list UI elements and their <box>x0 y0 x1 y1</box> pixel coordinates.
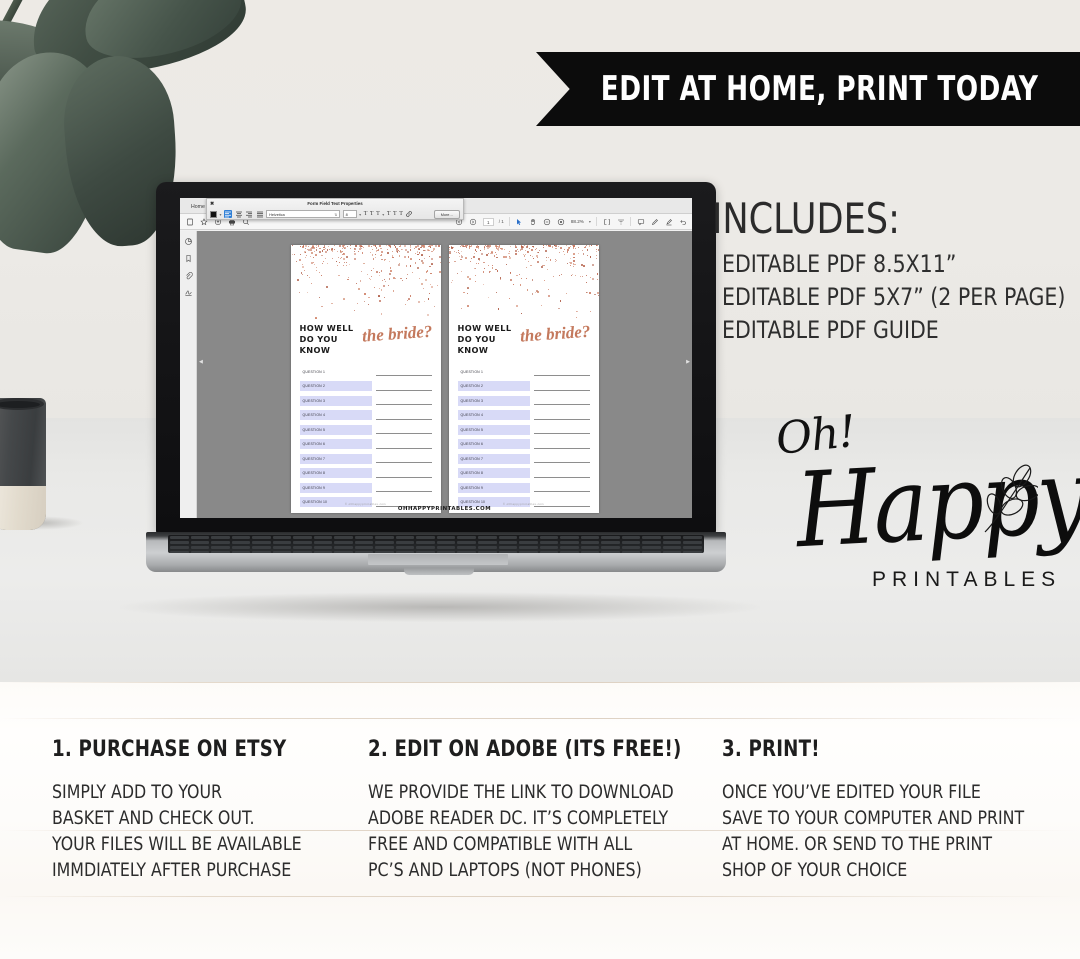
page-width-icon[interactable] <box>616 217 625 226</box>
confetti-dot <box>563 251 564 252</box>
confetti-dot <box>328 246 329 247</box>
confetti-dot <box>346 265 347 266</box>
question-field[interactable]: QUESTION 2 <box>300 381 372 391</box>
step-line: ADOBE READER DC. IT’S COMPLETELY <box>368 806 672 832</box>
answer-line[interactable] <box>376 491 432 492</box>
confetti-dot <box>431 258 433 260</box>
answer-line[interactable] <box>534 419 590 420</box>
confetti-dot <box>500 279 501 280</box>
keyboard-key <box>663 536 682 539</box>
confetti-dot <box>308 249 310 251</box>
question-field[interactable]: QUESTION 4 <box>458 410 530 420</box>
confetti-dot <box>479 260 480 261</box>
confetti-dot <box>405 249 407 251</box>
confetti-dot <box>538 252 539 253</box>
confetti-dot <box>573 248 574 249</box>
answer-line[interactable] <box>534 462 590 463</box>
heading-line-1: HOW WELL DO YOU KNOW <box>458 323 526 356</box>
confetti-dot <box>586 282 587 283</box>
confetti-dot <box>477 245 478 246</box>
keyboard-key <box>560 536 579 539</box>
confetti-dot <box>354 253 356 255</box>
confetti-dot <box>509 251 510 252</box>
confetti-dot <box>313 262 314 263</box>
keyboard-key <box>252 536 271 539</box>
confetti-dot <box>469 278 471 280</box>
keyboard-key <box>355 551 374 553</box>
question-field[interactable]: QUESTION 4 <box>300 410 372 420</box>
question-row: QUESTION 6 <box>458 438 590 453</box>
confetti-dot <box>381 259 382 260</box>
keyboard-key <box>519 546 538 549</box>
question-row: QUESTION 1 <box>300 365 432 380</box>
confetti-dot <box>396 250 398 252</box>
step-line: PC’S AND LAPTOPS (NOT PHONES) <box>368 858 672 884</box>
step-heading: 3. PRINT! <box>722 737 1015 762</box>
keyboard-key <box>232 546 251 549</box>
question-field[interactable]: QUESTION 1 <box>300 367 372 377</box>
confetti-dot <box>429 293 430 294</box>
confetti-dot <box>421 283 423 285</box>
confetti-dot <box>336 261 337 262</box>
confetti-dot <box>379 272 380 273</box>
confetti-dot <box>461 308 462 309</box>
question-field[interactable]: QUESTION 3 <box>300 396 372 406</box>
question-field[interactable]: QUESTION 6 <box>458 439 530 449</box>
confetti-dot <box>532 293 533 294</box>
confetti-dot <box>428 298 430 300</box>
question-field[interactable]: QUESTION 1 <box>458 367 530 377</box>
zoom-out-icon[interactable] <box>543 217 552 226</box>
answer-line[interactable] <box>534 448 590 449</box>
bookmark-icon[interactable] <box>184 254 193 263</box>
question-field[interactable]: QUESTION 3 <box>458 396 530 406</box>
confetti-dot <box>497 270 498 271</box>
heading-line-1: HOW WELL DO YOU KNOW <box>300 323 368 356</box>
confetti-dot <box>390 270 392 272</box>
confetti-dot <box>401 249 402 250</box>
question-field[interactable]: QUESTION 8 <box>300 468 372 478</box>
confetti-dot <box>423 250 425 252</box>
includes-item: EDITABLE PDF GUIDE <box>722 314 1055 347</box>
keyboard-key <box>540 546 559 549</box>
laptop-screen: Home Tools EDITABLE Do you… × <box>180 198 692 518</box>
confetti-dot <box>449 249 450 250</box>
confetti-dot <box>430 284 431 285</box>
keyboard-key <box>191 536 210 539</box>
confetti-dot <box>541 305 542 306</box>
confetti-dot <box>360 280 362 282</box>
laptop-keyboard <box>168 535 704 553</box>
confetti-dot <box>558 246 559 247</box>
confetti-dot <box>476 263 477 264</box>
confetti-dot <box>432 245 433 246</box>
confetti-dot <box>314 251 315 252</box>
confetti-dot <box>334 245 335 246</box>
confetti-dot <box>389 261 390 262</box>
keyboard-key <box>663 546 682 549</box>
confetti-dot <box>415 262 417 264</box>
confetti-dot <box>296 261 297 262</box>
keyboard-key <box>642 536 661 539</box>
font-family-select[interactable]: Helvetica ⇅ <box>266 210 340 218</box>
confetti-dot <box>525 254 526 255</box>
keyboard-key <box>560 546 579 549</box>
confetti-dot <box>299 292 300 293</box>
chevron-down-icon[interactable]: ▾ <box>589 219 591 224</box>
close-icon[interactable]: ✖ <box>210 200 214 209</box>
confetti-dot <box>410 258 412 260</box>
keyboard-key <box>416 546 435 549</box>
confetti-dot <box>526 278 527 279</box>
chevron-down-icon[interactable]: ▾ <box>220 212 222 217</box>
confetti-dot <box>573 266 574 267</box>
question-field[interactable]: QUESTION 8 <box>458 468 530 478</box>
confetti-dot <box>406 265 407 266</box>
confetti-dot <box>343 265 344 266</box>
font-size-input[interactable]: 8 <box>343 210 357 218</box>
answer-line[interactable] <box>376 433 432 434</box>
keyboard-key <box>457 536 476 539</box>
confetti-dot <box>483 284 485 286</box>
confetti-dot <box>539 250 540 251</box>
more-button[interactable]: More… <box>434 210 460 219</box>
confetti-dot <box>594 294 596 296</box>
question-field[interactable]: QUESTION 5 <box>300 425 372 435</box>
confetti-dot <box>465 257 467 259</box>
answer-line[interactable] <box>376 404 432 405</box>
confetti-dot <box>407 274 408 275</box>
comment-icon[interactable] <box>636 217 645 226</box>
pencil-icon[interactable] <box>650 217 659 226</box>
confetti-dot <box>590 256 592 258</box>
confetti-dot <box>316 270 317 271</box>
question-field[interactable]: QUESTION 5 <box>458 425 530 435</box>
confetti-dot <box>340 250 341 251</box>
answer-line[interactable] <box>534 390 590 391</box>
confetti-dot <box>544 280 545 281</box>
confetti-dot <box>375 254 376 255</box>
confetti-dot <box>478 246 479 247</box>
confetti-dot <box>419 253 420 254</box>
confetti-dot <box>369 278 370 279</box>
confetti-dot <box>423 288 424 289</box>
page-thumbnails-icon[interactable] <box>184 237 193 246</box>
confetti-dot <box>419 252 420 253</box>
confetti-dot <box>526 246 528 248</box>
scroll-left-icon[interactable]: ◀ <box>199 359 203 365</box>
keyboard-key <box>581 551 600 553</box>
confetti-dot <box>590 311 591 312</box>
confetti-dot <box>395 278 396 279</box>
confetti-dot <box>530 265 532 267</box>
confetti-dot <box>300 254 301 255</box>
promo-banner: EDIT AT HOME, PRINT TODAY <box>536 52 1080 126</box>
confetti-dot <box>332 251 334 253</box>
app-body: ◀ ▶ HOW WELL DO YOU KNOW the bride? QUES… <box>180 231 692 518</box>
keyboard-key <box>642 541 661 544</box>
confetti-dot <box>578 247 579 248</box>
question-field[interactable]: QUESTION 7 <box>458 454 530 464</box>
confetti-dot <box>424 258 425 259</box>
confetti-dot <box>342 251 343 252</box>
confetti-dot <box>558 308 560 310</box>
text-italic-icon[interactable]: T <box>370 211 374 217</box>
confetti-dot <box>429 266 431 268</box>
confetti-dot <box>315 254 317 256</box>
confetti-dot <box>481 253 483 255</box>
chevron-down-icon[interactable]: ▾ <box>382 212 384 217</box>
confetti-dot <box>524 245 525 246</box>
confetti-dot <box>475 268 476 269</box>
keyboard-row <box>168 550 704 553</box>
confetti-dot <box>597 292 599 294</box>
keyboard-key <box>396 546 415 549</box>
text-spacing-icon[interactable]: T <box>393 211 397 217</box>
confetti-dot <box>504 249 505 250</box>
question-row: QUESTION 7 <box>300 452 432 467</box>
keyboard-key <box>519 541 538 544</box>
confetti-dot <box>364 293 366 295</box>
confetti-dot <box>381 313 383 315</box>
pdf-application: Home Tools EDITABLE Do you… × <box>180 198 692 518</box>
keyboard-key <box>191 541 210 544</box>
confetti-dot <box>556 260 557 261</box>
attachment-icon[interactable] <box>184 271 193 280</box>
confetti-dot <box>510 272 511 273</box>
confetti-dot <box>573 260 575 262</box>
confetti-dot <box>354 310 355 311</box>
confetti-dot <box>566 245 567 246</box>
page-heading: HOW WELL DO YOU KNOW the bride? <box>300 323 432 355</box>
confetti-dot <box>407 300 408 301</box>
confetti-dot <box>537 261 539 263</box>
confetti-dot <box>490 271 491 272</box>
keyboard-key <box>622 551 641 553</box>
answer-line[interactable] <box>534 433 590 434</box>
confetti-dot <box>434 306 435 307</box>
confetti-dot <box>536 255 538 257</box>
keyboard-key <box>540 536 559 539</box>
pdf-page[interactable]: HOW WELL DO YOU KNOW the bride? QUESTION… <box>291 245 441 513</box>
confetti-dot <box>378 295 380 297</box>
confetti-dot <box>501 249 503 251</box>
logo-printables-text: PRINTABLES <box>872 568 1061 592</box>
confetti-dot <box>392 251 394 253</box>
confetti-dot <box>339 245 341 247</box>
confetti-dot <box>545 250 547 252</box>
scroll-right-icon[interactable]: ▶ <box>686 359 690 365</box>
confetti-dot <box>356 283 357 284</box>
keyboard-key <box>314 536 333 539</box>
confetti-dot <box>483 271 485 273</box>
text-superscript-icon[interactable]: T <box>376 211 380 217</box>
step-line: SHOP OF YOUR CHOICE <box>722 858 1024 884</box>
confetti-dot <box>332 258 333 259</box>
toolbar-divider <box>630 217 631 226</box>
confetti-dot <box>519 274 521 276</box>
answer-line[interactable] <box>376 462 432 463</box>
keyboard-key <box>642 551 661 553</box>
zoom-level-label[interactable]: 88.2% <box>571 219 584 224</box>
step-line: IMMDIATELY AFTER PURCHASE <box>52 858 320 884</box>
confetti-dot <box>385 281 386 282</box>
answer-line[interactable] <box>534 477 590 478</box>
confetti-dot <box>340 258 341 259</box>
zoom-in-icon[interactable] <box>557 217 566 226</box>
answer-line[interactable] <box>376 448 432 449</box>
confetti-dot <box>510 272 512 274</box>
chevron-down-icon[interactable]: ▾ <box>359 212 361 217</box>
confetti-dot <box>457 273 458 274</box>
question-field[interactable]: QUESTION 2 <box>458 381 530 391</box>
keyboard-key <box>437 536 456 539</box>
question-row: QUESTION 9 <box>458 481 590 496</box>
confetti-dot <box>469 247 471 249</box>
step-line: WE PROVIDE THE LINK TO DOWNLOAD <box>368 780 672 806</box>
confetti-dot <box>307 275 308 276</box>
confetti-dot <box>537 291 538 292</box>
align-right-icon[interactable] <box>245 210 253 218</box>
watermark-url: OHHAPPYPRINTABLES.COM <box>197 506 692 512</box>
confetti-dot <box>505 256 507 258</box>
confetti-dot <box>496 292 497 293</box>
confetti-dot <box>310 249 312 251</box>
confetti-dot <box>466 247 467 248</box>
highlighter-icon[interactable] <box>664 217 673 226</box>
undo-icon[interactable] <box>678 217 687 226</box>
confetti-dot <box>450 253 451 254</box>
confetti-dot <box>590 277 591 278</box>
answer-line[interactable] <box>376 390 432 391</box>
keyboard-key <box>560 541 579 544</box>
keyboard-key <box>273 536 292 539</box>
confetti-dot <box>363 263 365 265</box>
confetti-dot <box>373 245 374 246</box>
confetti-dot <box>515 247 517 249</box>
text-color-swatch[interactable] <box>210 211 217 218</box>
keyboard-key <box>334 546 353 549</box>
keyboard-key <box>478 536 497 539</box>
confetti-dot <box>506 264 507 265</box>
confetti-dot <box>581 264 583 266</box>
laptop-lid: Home Tools EDITABLE Do you… × <box>156 182 716 534</box>
confetti-dot <box>299 259 301 261</box>
confetti-dot <box>435 245 437 247</box>
question-field[interactable]: QUESTION 9 <box>458 483 530 493</box>
next-page-icon[interactable] <box>469 217 478 226</box>
confetti-dot <box>387 249 388 250</box>
confetti-dot <box>459 256 461 258</box>
pdf-page[interactable]: HOW WELL DO YOU KNOW the bride? QUESTION… <box>449 245 599 513</box>
align-left-icon[interactable] <box>224 210 232 218</box>
question-field[interactable]: QUESTION 9 <box>300 483 372 493</box>
file-icon[interactable] <box>185 217 194 226</box>
confetti-dot <box>370 252 371 253</box>
font-family-value: Helvetica <box>269 213 285 217</box>
confetti-dot <box>486 254 488 256</box>
confetti-dot <box>449 247 450 248</box>
question-row: QUESTION 7 <box>458 452 590 467</box>
confetti-dot <box>552 246 553 247</box>
align-center-icon[interactable] <box>235 210 243 218</box>
question-row: QUESTION 5 <box>458 423 590 438</box>
text-scale-icon[interactable]: T <box>399 211 403 217</box>
hand-tool-icon[interactable] <box>529 217 538 226</box>
confetti-dot <box>475 275 476 276</box>
confetti-dot <box>327 263 328 264</box>
keyboard-key <box>375 546 394 549</box>
confetti-dot <box>547 269 548 270</box>
confetti-dot <box>307 292 309 294</box>
keyboard-key <box>170 541 189 544</box>
select-cursor-icon[interactable] <box>515 217 524 226</box>
confetti-dot <box>430 273 432 275</box>
confetti-dot <box>387 252 389 254</box>
confetti-dot <box>327 249 329 251</box>
answer-line[interactable] <box>376 477 432 478</box>
confetti-dot <box>322 263 324 265</box>
toolbar-divider <box>596 217 597 226</box>
palette-titlebar: ✖ Form Field Text Properties <box>207 199 463 208</box>
keyboard-key <box>540 551 559 553</box>
answer-line[interactable] <box>534 491 590 492</box>
confetti-dot <box>589 245 591 247</box>
confetti-dot <box>488 297 490 299</box>
question-row: QUESTION 3 <box>300 394 432 409</box>
step-body: ONCE YOU’VE EDITED YOUR FILE SAVE TO YOU… <box>722 780 1024 884</box>
question-row: QUESTION 3 <box>458 394 590 409</box>
confetti-dot <box>484 247 485 248</box>
confetti-dot <box>311 252 313 254</box>
confetti-dot <box>319 297 320 298</box>
answer-line[interactable] <box>534 375 590 376</box>
confetti-dot <box>373 268 374 269</box>
question-field[interactable]: QUESTION 7 <box>300 454 372 464</box>
keyboard-key <box>683 536 702 539</box>
confetti-dot <box>424 301 425 302</box>
confetti-dot <box>489 245 491 247</box>
confetti-dot <box>410 249 411 250</box>
confetti-dot <box>343 298 345 300</box>
page-fit-icon[interactable] <box>602 217 611 226</box>
keyboard-key <box>273 551 292 553</box>
keyboard-key <box>601 536 620 539</box>
keyboard-key <box>314 546 333 549</box>
confetti-dot <box>461 256 463 258</box>
answer-line[interactable] <box>376 375 432 376</box>
page-number-input[interactable]: 1 <box>483 218 494 226</box>
answer-line[interactable] <box>534 404 590 405</box>
confetti-dot <box>325 251 327 253</box>
confetti-dot <box>553 276 554 277</box>
keyboard-key <box>191 546 210 549</box>
left-rail <box>180 231 197 518</box>
text-subscript-icon[interactable]: T <box>387 211 391 217</box>
text-size-icon[interactable]: T <box>364 211 368 217</box>
confetti-dot <box>399 263 400 264</box>
confetti-dot <box>431 263 433 265</box>
link-icon[interactable] <box>405 210 413 218</box>
answer-line[interactable] <box>376 419 432 420</box>
confetti-dot <box>560 247 562 249</box>
align-justify-icon[interactable] <box>256 210 264 218</box>
confetti-dot <box>471 246 472 247</box>
document-viewport[interactable]: ◀ ▶ HOW WELL DO YOU KNOW the bride? QUES… <box>197 231 692 518</box>
signature-icon[interactable] <box>184 288 193 297</box>
form-field-text-properties-palette[interactable]: ✖ Form Field Text Properties ▾ Helvetica <box>206 198 464 220</box>
question-field[interactable]: QUESTION 6 <box>300 439 372 449</box>
